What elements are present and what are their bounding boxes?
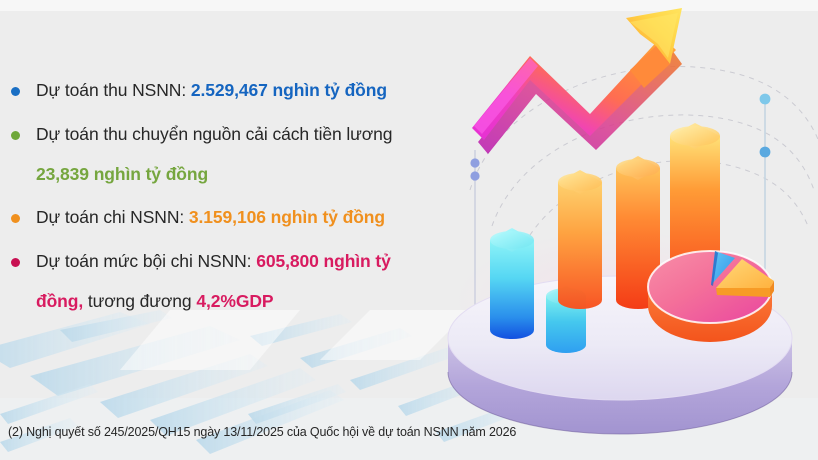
bullet-value: 2.529,467 nghìn tỷ đồng — [191, 80, 387, 100]
bullet-line-continued: đồng, tương đương 4,2%GDP — [36, 289, 460, 314]
illustration-3d-chart — [430, 0, 818, 440]
bar-cyan — [490, 228, 534, 339]
bullet-dot-salary-reform — [11, 131, 20, 140]
bullet-item-revenue: Dự toán thu NSNN: 2.529,467 nghìn tỷ đồn… — [0, 78, 460, 103]
marker-dot-left-lower — [470, 171, 479, 180]
bullet-line: Dự toán thu NSNN: 2.529,467 nghìn tỷ đồn… — [36, 78, 460, 103]
bullet-value-cont: đồng, — [36, 291, 83, 311]
footnote: (2) Nghị quyết số 245/2025/QH15 ngày 13/… — [8, 425, 516, 439]
zigzag-growth-arrow — [472, 8, 682, 154]
bullet-value: 605,800 nghìn tỷ — [256, 251, 391, 271]
bullet-item-deficit: Dự toán mức bội chi NSNN: 605,800 nghìn … — [0, 249, 460, 314]
bullet-line: Dự toán thu chuyển nguồn cải cách tiền l… — [36, 122, 460, 147]
bullet-value: 3.159,106 nghìn tỷ đồng — [189, 207, 385, 227]
bullet-line: Dự toán mức bội chi NSNN: 605,800 nghìn … — [36, 249, 460, 274]
bullet-text-cont: tương đương — [83, 291, 196, 311]
bullet-value-gdp: 4,2%GDP — [196, 291, 273, 311]
bullet-line-value: 23,839 nghìn tỷ đồng — [36, 162, 460, 187]
infographic-slide: Dự toán thu NSNN: 2.529,467 nghìn tỷ đồn… — [0, 0, 818, 460]
marker-dot-left-upper — [470, 158, 479, 167]
bullet-dot-revenue — [11, 87, 20, 96]
bullet-item-salary-reform: Dự toán thu chuyển nguồn cải cách tiền l… — [0, 122, 460, 187]
bullet-line: Dự toán chi NSNN: 3.159,106 nghìn tỷ đồn… — [36, 205, 460, 230]
marker-dot-right-lower — [760, 147, 771, 158]
bullet-text: Dự toán mức bội chi NSNN: — [36, 251, 256, 271]
bullet-list: Dự toán thu NSNN: 2.529,467 nghìn tỷ đồn… — [0, 78, 460, 316]
bullet-value: 23,839 nghìn tỷ đồng — [36, 164, 208, 184]
bullet-dot-deficit — [11, 258, 20, 267]
bullet-text: Dự toán chi NSNN: — [36, 207, 189, 227]
bullet-dot-expenditure — [11, 214, 20, 223]
3d-pie-chart — [648, 251, 774, 342]
marker-dot-right-upper — [760, 94, 771, 105]
bullet-text: Dự toán thu NSNN: — [36, 80, 191, 100]
bar-orange — [558, 170, 602, 309]
bullet-text: Dự toán thu chuyển nguồn cải cách tiền l… — [36, 124, 392, 144]
bullet-item-expenditure: Dự toán chi NSNN: 3.159,106 nghìn tỷ đồn… — [0, 205, 460, 230]
